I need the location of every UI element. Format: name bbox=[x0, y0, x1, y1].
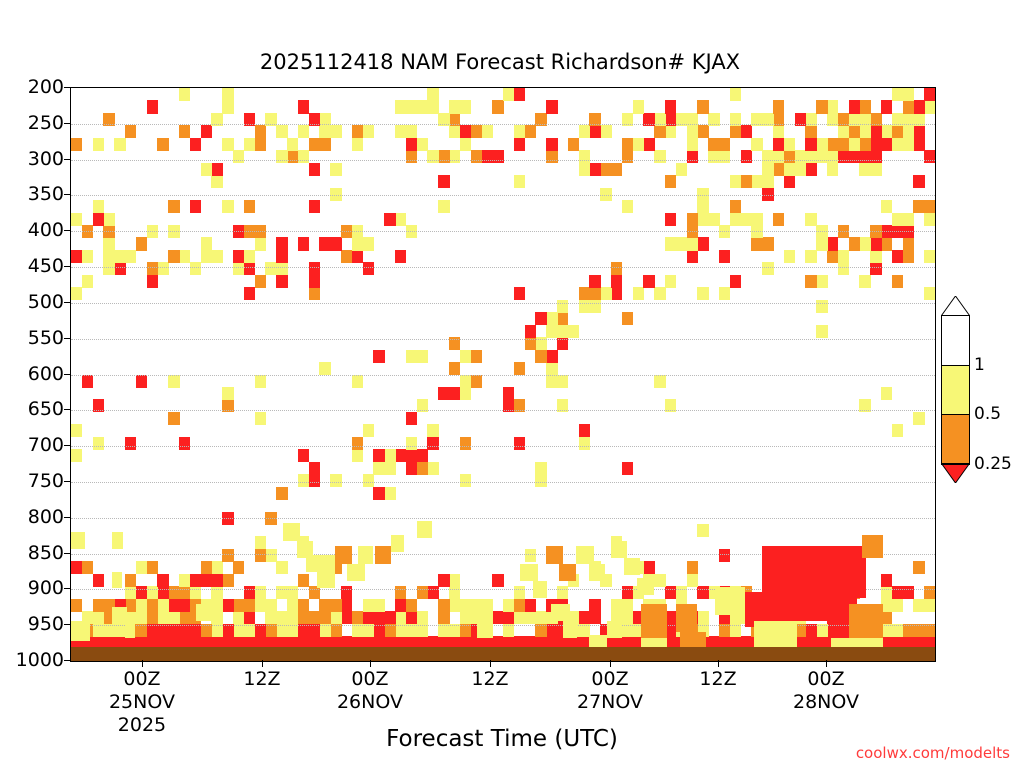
heatmap-cell bbox=[265, 262, 276, 275]
heatmap-cell bbox=[298, 150, 309, 163]
colorbar-tick bbox=[941, 464, 970, 465]
heatmap-cell bbox=[568, 138, 579, 151]
heatmap-cell bbox=[147, 262, 158, 275]
heatmap-cell bbox=[460, 387, 471, 400]
heatmap-cell bbox=[643, 275, 654, 288]
heatmap-cell bbox=[514, 287, 525, 300]
heatmap-cell bbox=[730, 275, 741, 288]
heatmap-cell bbox=[287, 611, 298, 624]
heatmap-cell bbox=[255, 138, 266, 151]
heatmap-cell bbox=[309, 586, 320, 599]
heatmap-cell bbox=[676, 586, 687, 599]
heatmap-cell bbox=[114, 250, 125, 263]
colorbar-bottom-arrow bbox=[941, 463, 970, 483]
gridline bbox=[71, 303, 935, 304]
heatmap-cell bbox=[514, 599, 525, 612]
heatmap-cell bbox=[827, 150, 838, 163]
heatmap-cell bbox=[276, 262, 287, 275]
x-axis-tick bbox=[370, 660, 371, 667]
heatmap-cell bbox=[762, 175, 773, 188]
heatmap-cell bbox=[395, 611, 406, 624]
heatmap-cell bbox=[222, 387, 233, 400]
heatmap-cell bbox=[535, 611, 546, 624]
heatmap-cell bbox=[298, 611, 309, 624]
heatmap-cell bbox=[330, 474, 341, 487]
heatmap-cell bbox=[795, 163, 806, 176]
heatmap-cell bbox=[838, 125, 849, 138]
x-axis-label: 12Z bbox=[699, 668, 736, 691]
heatmap-cell bbox=[913, 100, 924, 113]
heatmap-cell bbox=[287, 150, 298, 163]
heatmap-cell bbox=[233, 611, 244, 624]
heatmap-cell bbox=[881, 200, 892, 213]
heatmap-cell bbox=[298, 449, 309, 462]
heatmap-cell bbox=[676, 163, 687, 176]
heatmap-cell bbox=[924, 213, 935, 226]
heatmap-cell bbox=[881, 100, 892, 113]
heatmap-cell bbox=[892, 213, 903, 226]
heatmap-cell bbox=[589, 287, 600, 300]
heatmap-cell bbox=[233, 250, 244, 263]
heatmap-cell bbox=[384, 611, 395, 624]
heatmap-cell bbox=[913, 599, 924, 612]
heatmap-cell bbox=[255, 599, 266, 612]
heatmap-cell bbox=[784, 150, 795, 163]
heatmap-cell bbox=[255, 412, 266, 425]
heatmap-cell bbox=[233, 262, 244, 275]
heatmap-cell bbox=[687, 574, 698, 587]
heatmap-cell bbox=[347, 564, 364, 581]
heatmap-cell bbox=[903, 213, 914, 226]
heatmap-cell bbox=[406, 138, 417, 151]
heatmap-cell bbox=[633, 287, 644, 300]
heatmap-cell bbox=[82, 375, 93, 388]
heatmap-cell bbox=[805, 163, 816, 176]
heatmap-cell bbox=[427, 424, 438, 437]
heatmap-cell bbox=[352, 250, 363, 263]
heatmap-cell bbox=[222, 138, 233, 151]
heatmap-cell bbox=[859, 150, 870, 163]
heatmap-cell bbox=[520, 564, 537, 581]
heatmap-cell bbox=[157, 586, 168, 599]
heatmap-cell bbox=[417, 521, 433, 538]
y-axis-label: 300 bbox=[0, 148, 64, 170]
heatmap-cell bbox=[525, 325, 536, 338]
heatmap-cell bbox=[244, 586, 255, 599]
heatmap-cell bbox=[624, 558, 640, 575]
heatmap-cell bbox=[697, 125, 708, 138]
heatmap-cell bbox=[816, 325, 827, 338]
heatmap-cell bbox=[103, 262, 114, 275]
heatmap-cell bbox=[363, 262, 374, 275]
heatmap-cell bbox=[622, 150, 633, 163]
heatmap-cell bbox=[730, 200, 741, 213]
heatmap-cell bbox=[924, 100, 935, 113]
heatmap-cell bbox=[600, 287, 611, 300]
surface-bar bbox=[71, 647, 935, 661]
heatmap-cell bbox=[784, 175, 795, 188]
heatmap-cell bbox=[579, 611, 590, 624]
heatmap-cell bbox=[913, 200, 924, 213]
colorbar-tick bbox=[941, 365, 970, 366]
heatmap-cell bbox=[352, 449, 363, 462]
heatmap-cell bbox=[93, 611, 104, 624]
heatmap-cell bbox=[168, 412, 179, 425]
heatmap-cell bbox=[687, 138, 698, 151]
heatmap-cell bbox=[317, 572, 334, 588]
colorbar-label: 0.25 bbox=[974, 454, 1012, 474]
heatmap-cell bbox=[492, 150, 503, 163]
heatmap-cell bbox=[870, 150, 881, 163]
heatmap-cell bbox=[589, 611, 600, 624]
heatmap-cell bbox=[222, 200, 233, 213]
heatmap-cell bbox=[795, 150, 806, 163]
gridline bbox=[71, 267, 935, 268]
heatmap-cell bbox=[471, 350, 482, 363]
heatmap-cell bbox=[730, 213, 741, 226]
heatmap-cell bbox=[924, 200, 935, 213]
heatmap-cell bbox=[535, 462, 546, 475]
heatmap-cell bbox=[637, 578, 654, 595]
heatmap-cell bbox=[244, 599, 255, 612]
heatmap-cell bbox=[265, 549, 276, 562]
heatmap-cell bbox=[633, 138, 644, 151]
heatmap-cell bbox=[773, 213, 784, 226]
heatmap-cell bbox=[697, 586, 708, 599]
heatmap-cell bbox=[849, 100, 860, 113]
heatmap-cell bbox=[492, 611, 503, 624]
heatmap-cell bbox=[190, 138, 201, 151]
heatmap-cell bbox=[222, 599, 233, 612]
heatmap-cell bbox=[924, 287, 935, 300]
heatmap-cell bbox=[589, 163, 600, 176]
heatmap-cell bbox=[622, 462, 633, 475]
colorbar-segment bbox=[941, 414, 970, 464]
heatmap-cell bbox=[533, 581, 547, 598]
heatmap-cell bbox=[265, 611, 276, 624]
x-axis-tick bbox=[826, 660, 827, 667]
heatmap-cell bbox=[287, 586, 298, 599]
heatmap-cell bbox=[309, 163, 320, 176]
heatmap-cell bbox=[196, 604, 212, 621]
heatmap-cell bbox=[622, 138, 633, 151]
heatmap-cell bbox=[697, 213, 708, 226]
heatmap-cell bbox=[136, 599, 147, 612]
heatmap-cell bbox=[551, 604, 570, 621]
y-axis-label: 500 bbox=[0, 291, 64, 313]
heatmap-cell bbox=[330, 611, 341, 624]
heatmap-cell bbox=[71, 621, 90, 641]
heatmap-cell bbox=[514, 586, 525, 599]
heatmap-cell bbox=[741, 213, 752, 226]
heatmap-cell bbox=[816, 275, 827, 288]
heatmap-cell bbox=[319, 362, 330, 375]
heatmap-cell bbox=[881, 387, 892, 400]
heatmap-cell bbox=[546, 350, 557, 363]
heatmap-cell bbox=[913, 561, 924, 574]
heatmap-cell bbox=[579, 150, 590, 163]
heatmap-cell bbox=[168, 611, 179, 624]
heatmap-cell bbox=[870, 237, 881, 250]
heatmap-cell bbox=[298, 125, 309, 138]
heatmap-cell bbox=[859, 163, 870, 176]
y-axis-tick bbox=[64, 624, 70, 625]
heatmap-cell bbox=[563, 621, 577, 638]
heatmap-cell bbox=[82, 561, 93, 574]
heatmap-cell bbox=[255, 237, 266, 250]
heatmap-cell bbox=[417, 462, 428, 475]
heatmap-cell bbox=[330, 163, 341, 176]
heatmap-cell bbox=[708, 138, 719, 151]
heatmap-cell bbox=[168, 375, 179, 388]
heatmap-cell bbox=[157, 574, 168, 587]
x-axis-label: 00Z 28NOV bbox=[793, 668, 859, 714]
heatmap-cell bbox=[417, 100, 428, 113]
heatmap-cell bbox=[341, 611, 352, 624]
x-axis-label: 00Z 27NOV bbox=[577, 668, 643, 714]
heatmap-cell bbox=[741, 125, 752, 138]
heatmap-cell bbox=[373, 599, 384, 612]
heatmap-cell bbox=[633, 100, 644, 113]
y-axis-label: 550 bbox=[0, 327, 64, 349]
heatmap-cell bbox=[903, 586, 914, 599]
heatmap-cell bbox=[773, 100, 784, 113]
y-axis-label: 900 bbox=[0, 577, 64, 599]
heatmap-cell bbox=[449, 100, 460, 113]
heatmap-cell bbox=[622, 312, 633, 325]
heatmap-cell bbox=[741, 150, 752, 163]
heatmap-cell bbox=[913, 412, 924, 425]
heatmap-cell bbox=[762, 150, 773, 163]
colorbar-label: 1 bbox=[974, 355, 985, 375]
heatmap-cell bbox=[125, 437, 136, 450]
heatmap-cell bbox=[719, 138, 730, 151]
heatmap-cell bbox=[697, 200, 708, 213]
heatmap-cell bbox=[391, 535, 405, 552]
heatmap-cell bbox=[654, 574, 665, 587]
heatmap-cell bbox=[784, 250, 795, 263]
heatmap-cell bbox=[222, 574, 233, 587]
heatmap-cell bbox=[546, 362, 557, 375]
heatmap-cell bbox=[784, 138, 795, 151]
heatmap-cell bbox=[525, 599, 536, 612]
heatmap-cell bbox=[71, 138, 82, 151]
heatmap-cell bbox=[306, 555, 335, 572]
heatmap-cell bbox=[849, 150, 860, 163]
heatmap-cell bbox=[287, 599, 298, 612]
heatmap-cell bbox=[222, 100, 233, 113]
y-axis-tick bbox=[64, 553, 70, 554]
heatmap-cell bbox=[600, 163, 611, 176]
gridline bbox=[71, 195, 935, 196]
x-axis-tick bbox=[718, 660, 719, 667]
heatmap-cell bbox=[352, 375, 363, 388]
heatmap-cell bbox=[589, 564, 605, 581]
heatmap-cell bbox=[309, 287, 320, 300]
heatmap-cell bbox=[924, 599, 935, 612]
heatmap-cell bbox=[276, 275, 287, 288]
gridline bbox=[71, 160, 935, 161]
heatmap-cell bbox=[319, 611, 330, 624]
heatmap-cell bbox=[319, 125, 330, 138]
heatmap-cell bbox=[363, 599, 374, 612]
heatmap-cell bbox=[298, 574, 309, 587]
heatmap-cell bbox=[449, 362, 460, 375]
heatmap-cell bbox=[579, 300, 590, 313]
heatmap-cell bbox=[417, 611, 428, 624]
y-axis-tick bbox=[64, 588, 70, 589]
heatmap-cell bbox=[903, 100, 914, 113]
heatmap-cell bbox=[211, 250, 222, 263]
heatmap-cell bbox=[568, 325, 579, 338]
heatmap-cell bbox=[525, 611, 536, 624]
heatmap-cell bbox=[438, 611, 449, 624]
heatmap-cell bbox=[535, 350, 546, 363]
heatmap-cell bbox=[179, 586, 190, 599]
x-axis-tick bbox=[142, 660, 143, 667]
heatmap-cell bbox=[352, 611, 363, 624]
heatmap-cell bbox=[201, 561, 212, 574]
heatmap-cell bbox=[892, 275, 903, 288]
heatmap-cell bbox=[255, 536, 266, 549]
heatmap-cell bbox=[358, 546, 374, 563]
heatmap-cell bbox=[190, 574, 201, 587]
gridline bbox=[71, 446, 935, 447]
heatmap-cell bbox=[676, 237, 687, 250]
heatmap-cell bbox=[838, 250, 849, 263]
heatmap-cell bbox=[697, 524, 708, 537]
heatmap-cell bbox=[477, 621, 493, 638]
heatmap-cell bbox=[82, 250, 93, 263]
colorbar-segment bbox=[941, 315, 970, 365]
heatmap-cell bbox=[373, 487, 384, 500]
heatmap-cell bbox=[589, 275, 600, 288]
heatmap-cell bbox=[460, 100, 471, 113]
heatmap-cell bbox=[190, 262, 201, 275]
heatmap-cell bbox=[546, 375, 557, 388]
heatmap-cell bbox=[881, 574, 892, 587]
heatmap-cell bbox=[622, 599, 633, 612]
heatmap-cell bbox=[395, 125, 406, 138]
heatmap-cell bbox=[211, 611, 222, 624]
y-axis-label: 700 bbox=[0, 434, 64, 456]
heatmap-cell bbox=[319, 237, 330, 250]
heatmap-cell bbox=[471, 125, 482, 138]
heatmap-cell bbox=[460, 350, 471, 363]
heatmap-cell bbox=[751, 175, 762, 188]
heatmap-cell bbox=[471, 375, 482, 388]
heatmap-cell bbox=[762, 262, 773, 275]
heatmap-cell bbox=[309, 275, 320, 288]
heatmap-cell bbox=[417, 449, 428, 462]
y-axis-tick bbox=[64, 445, 70, 446]
x-axis-label: 00Z 26NOV bbox=[337, 668, 403, 714]
heatmap-cell bbox=[438, 574, 449, 587]
heatmap-cell bbox=[276, 237, 287, 250]
heatmap-cell bbox=[870, 138, 881, 151]
x-axis-tick bbox=[262, 660, 263, 667]
heatmap-cell bbox=[265, 599, 276, 612]
heatmap-cell bbox=[309, 474, 320, 487]
heatmap-cell bbox=[309, 200, 320, 213]
heatmap-cell bbox=[881, 125, 892, 138]
x-axis-tick bbox=[610, 660, 611, 667]
heatmap-cell bbox=[406, 150, 417, 163]
heatmap-cell bbox=[287, 138, 298, 151]
heatmap-cell bbox=[341, 250, 352, 263]
heatmap-cell bbox=[352, 138, 363, 151]
heatmap-cell bbox=[114, 262, 125, 275]
heatmap-cell bbox=[147, 561, 158, 574]
heatmap-cell bbox=[168, 599, 179, 612]
heatmap-cell bbox=[600, 125, 611, 138]
heatmap-cell bbox=[665, 100, 676, 113]
heatmap-cell bbox=[179, 599, 190, 612]
heatmap-cell bbox=[406, 412, 417, 425]
heatmap-cell bbox=[514, 125, 525, 138]
heatmap-cell bbox=[827, 138, 838, 151]
heatmap-cell bbox=[546, 325, 557, 338]
heatmap-cell bbox=[719, 150, 730, 163]
heatmap-cell bbox=[335, 546, 352, 563]
heatmap-cell bbox=[112, 532, 122, 549]
heatmap-cell bbox=[112, 572, 122, 588]
heatmap-cell bbox=[816, 237, 827, 250]
heatmap-cell bbox=[730, 125, 741, 138]
heatmap-cell bbox=[754, 621, 797, 650]
heatmap-cell bbox=[514, 88, 525, 101]
heatmap-cell bbox=[82, 275, 93, 288]
heatmap-cell bbox=[449, 150, 460, 163]
colorbar-top-arrow bbox=[941, 296, 970, 316]
heatmap-cell bbox=[157, 138, 168, 151]
heatmap-cell bbox=[395, 213, 406, 226]
heatmap-cell bbox=[179, 125, 190, 138]
heatmap-cell bbox=[363, 474, 374, 487]
heatmap-cell bbox=[751, 237, 762, 250]
heatmap-cell bbox=[611, 541, 627, 558]
heatmap-cell bbox=[244, 287, 255, 300]
y-axis-tick bbox=[64, 481, 70, 482]
y-axis-label: 950 bbox=[0, 613, 64, 635]
heatmap-cell bbox=[514, 362, 525, 375]
heatmap-cell bbox=[373, 611, 384, 624]
heatmap-cell bbox=[147, 586, 158, 599]
x-axis-label: 12Z bbox=[243, 668, 280, 691]
heatmap-cell bbox=[827, 100, 838, 113]
heatmap-cell bbox=[352, 125, 363, 138]
heatmap-cell bbox=[546, 150, 557, 163]
heatmap-cell bbox=[924, 586, 935, 599]
heatmap-cell bbox=[719, 250, 730, 263]
heatmap-cell bbox=[438, 175, 449, 188]
heatmap-cell bbox=[665, 275, 676, 288]
heatmap-cell bbox=[363, 611, 374, 624]
heatmap-cell bbox=[762, 598, 857, 621]
x-axis-title-text: Forecast Time (UTC) bbox=[386, 726, 618, 752]
heatmap-cell bbox=[438, 599, 449, 612]
heatmap-cell bbox=[849, 237, 860, 250]
heatmap-cell bbox=[481, 125, 492, 138]
y-axis-tick bbox=[64, 87, 70, 88]
colorbar-tick bbox=[941, 414, 970, 415]
heatmap-cell bbox=[579, 424, 590, 437]
y-axis-tick bbox=[64, 374, 70, 375]
heatmap-cell bbox=[201, 125, 212, 138]
heatmap-cell bbox=[892, 125, 903, 138]
colorbar-segment bbox=[941, 365, 970, 415]
heatmap-cell bbox=[665, 175, 676, 188]
